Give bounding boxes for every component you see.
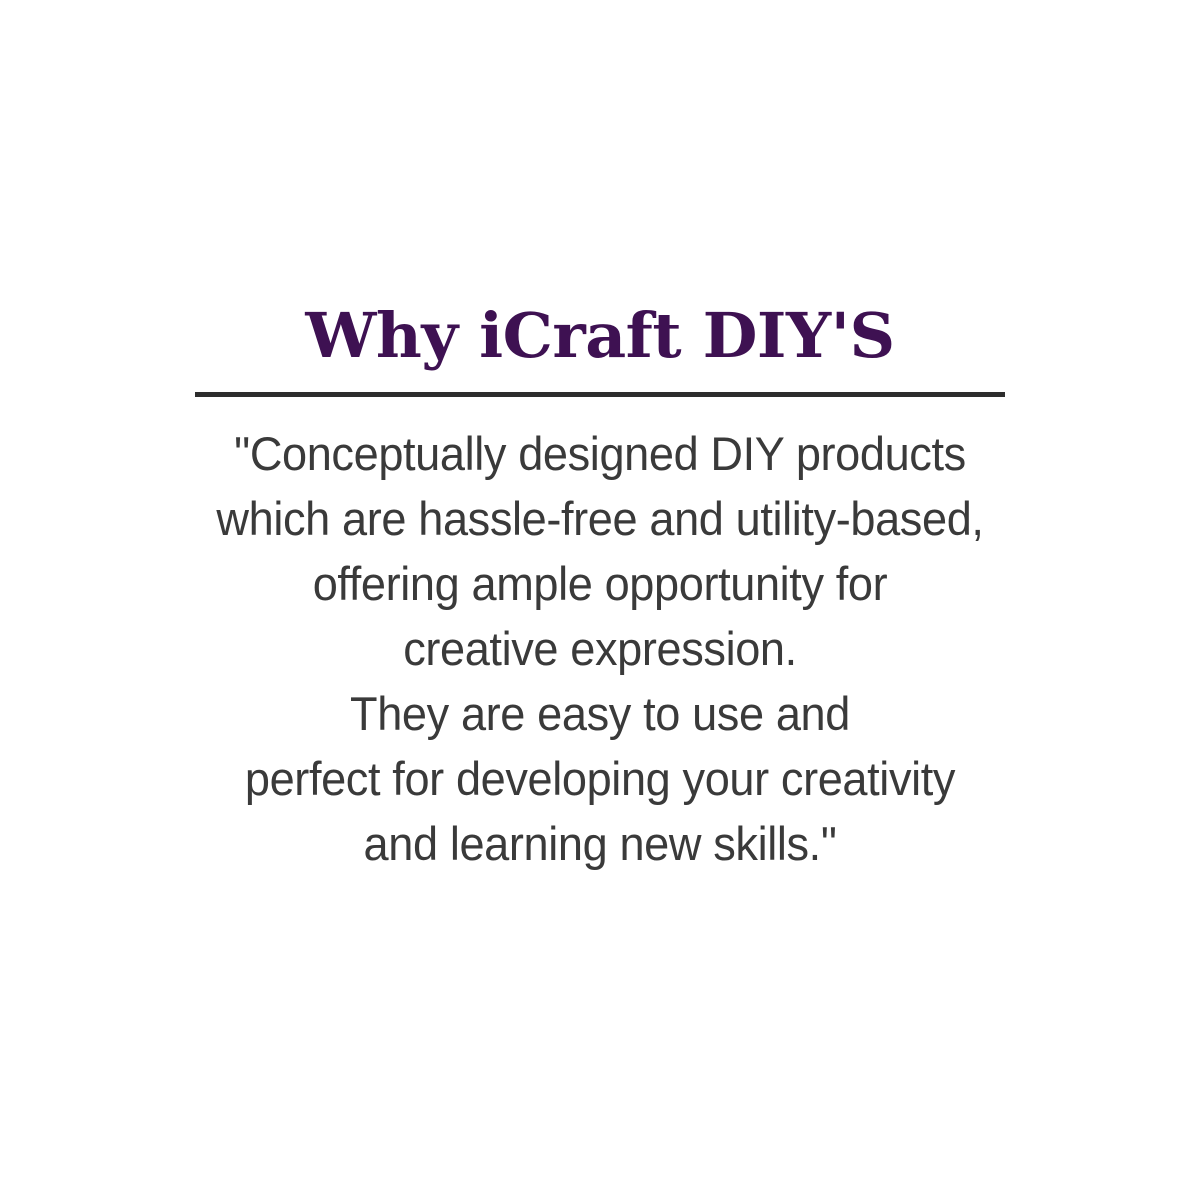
title-divider-rule (195, 392, 1005, 397)
page-title: Why iCraft DIY'S (0, 296, 1200, 376)
quote-line-2: which are hassle-free and utility-based, (24, 486, 1176, 551)
page-root: Why iCraft DIY'S "Conceptually designed … (0, 0, 1200, 1200)
quote-line-4: creative expression. (24, 616, 1176, 681)
quote-paragraph: "Conceptually designed DIY products whic… (0, 421, 1200, 876)
quote-line-3: offering ample opportunity for (24, 551, 1176, 616)
quote-line-1: "Conceptually designed DIY products (24, 421, 1176, 486)
divider-container (0, 392, 1200, 397)
why-icraft-section: Why iCraft DIY'S "Conceptually designed … (0, 296, 1200, 876)
quote-line-7: and learning new skills." (24, 811, 1176, 876)
quote-line-5: They are easy to use and (24, 681, 1176, 746)
quote-line-6: perfect for developing your creativity (24, 746, 1176, 811)
